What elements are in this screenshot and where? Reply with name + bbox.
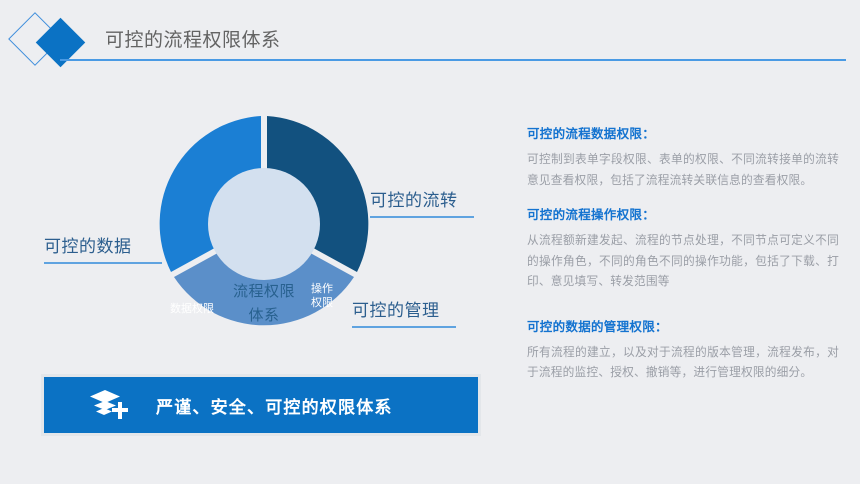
callout-flow-label: 可控的流转 <box>370 186 474 216</box>
donut-diagram: 数据权限 操作 权限 管理权限 流程权限 体系 <box>152 112 376 336</box>
info-block-operation: 可控的流程操作权限： 从流程额新建发起、流程的节点处理，不同节点可定义不同的操作… <box>527 207 839 293</box>
summary-banner[interactable]: 严谨、安全、可控的权限体系 <box>44 377 478 433</box>
page-title: 可控的流程权限体系 <box>105 25 281 52</box>
info-block-management: 可控的数据的管理权限： 所有流程的建立，以及对于流程的版本管理，流程发布，对于流… <box>527 319 839 384</box>
donut-center-label: 流程权限 体系 <box>214 280 314 328</box>
layers-plus-icon-svg <box>89 388 131 422</box>
header-divider <box>60 59 846 61</box>
callout-management[interactable]: 可控的管理 <box>352 296 456 328</box>
info-panel: 可控的流程数据权限： 可控制到表单字段权限、表单的权限、不同流转接单的流转意见查… <box>527 126 839 400</box>
callout-flow[interactable]: 可控的流转 <box>370 186 474 218</box>
callout-flow-underline <box>370 216 474 218</box>
callout-data-underline <box>44 262 162 264</box>
donut-center-line1: 流程权限 <box>233 283 295 300</box>
callout-management-label: 可控的管理 <box>352 296 456 326</box>
page-header: 可控的流程权限体系 <box>0 0 860 82</box>
donut-center-line2: 体系 <box>248 307 279 324</box>
info-block-data: 可控的流程数据权限： 可控制到表单字段权限、表单的权限、不同流转接单的流转意见查… <box>527 126 839 191</box>
donut-label-operation-line1: 操作 <box>311 283 333 295</box>
donut-label-operation-line2: 权限 <box>311 297 333 309</box>
summary-banner-text: 严谨、安全、可控的权限体系 <box>156 393 393 418</box>
info-body-management: 所有流程的建立，以及对于流程的版本管理，流程发布，对于流程的监控、授权、撤销等，… <box>527 343 839 384</box>
info-body-data: 可控制到表单字段权限、表单的权限、不同流转接单的流转意见查看权限，包括了流程流转… <box>527 150 839 191</box>
layers-plus-icon <box>88 387 132 423</box>
info-heading-operation: 可控的流程操作权限： <box>527 207 839 224</box>
callout-data[interactable]: 可控的数据 <box>44 232 162 264</box>
info-heading-management: 可控的数据的管理权限： <box>527 319 839 336</box>
callout-data-label: 可控的数据 <box>44 232 162 262</box>
callout-management-underline <box>352 326 456 328</box>
info-body-operation: 从流程额新建发起、流程的节点处理，不同节点可定义不同的操作角色，不同的角色不同的… <box>527 231 839 293</box>
info-heading-data: 可控的流程数据权限： <box>527 126 839 143</box>
donut-center-circle <box>208 168 320 280</box>
